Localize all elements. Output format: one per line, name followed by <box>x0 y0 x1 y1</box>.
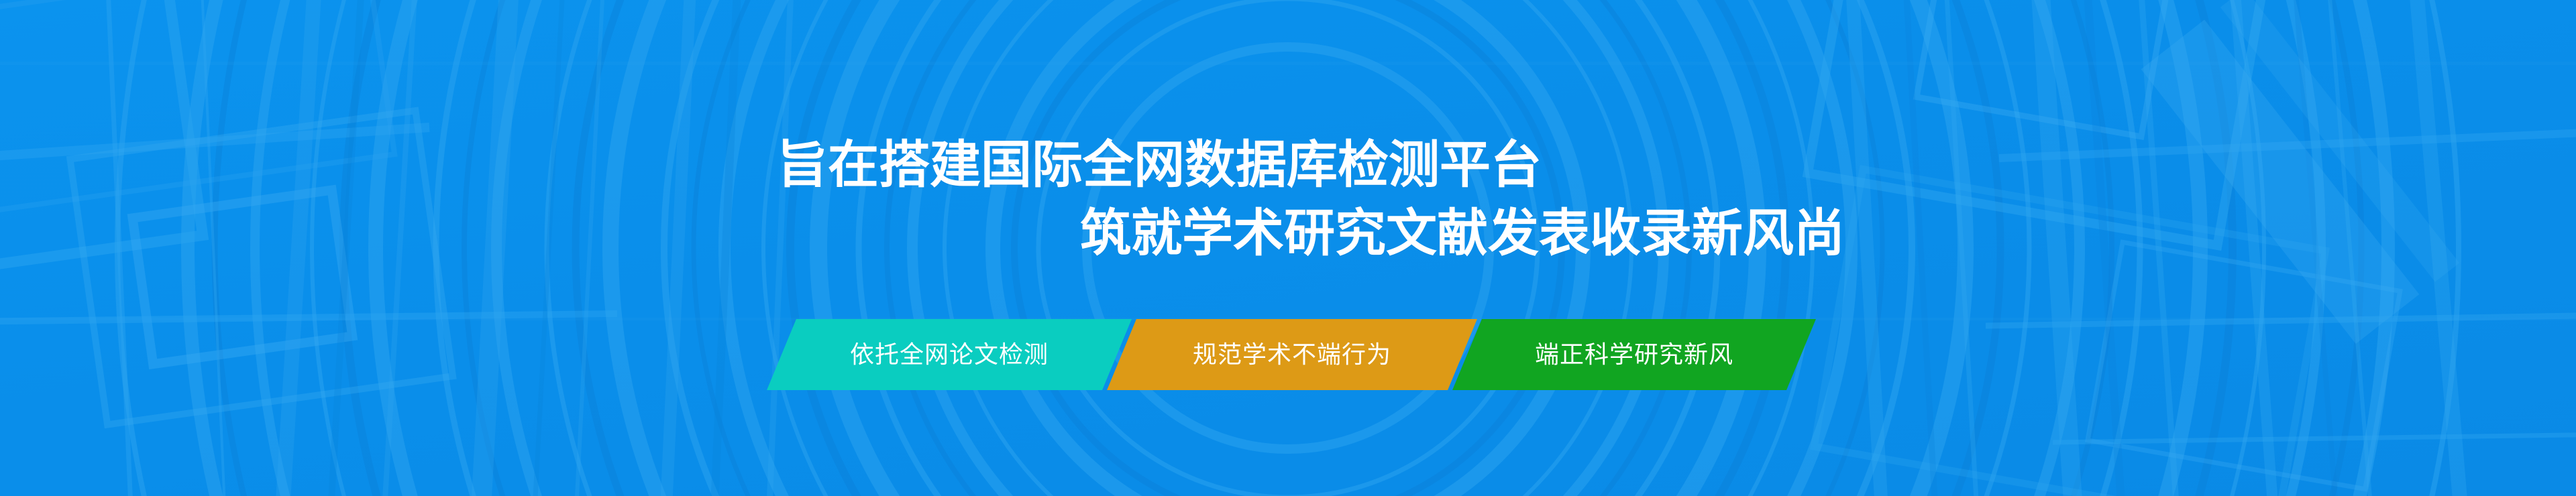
headline-line-2: 筑就学术研究文献发表收录新风尚 <box>1080 200 2576 268</box>
headline-line-1: 旨在搭建国际全网数据库检测平台 <box>777 131 2576 200</box>
ribbon-paper-detection-label: 依托全网论文检测 <box>850 343 1049 367</box>
ribbon-academic-misconduct[interactable]: 规范学术不端行为 <box>1107 319 1477 390</box>
ribbon-paper-detection[interactable]: 依托全网论文检测 <box>767 319 1132 390</box>
ribbon-academic-misconduct-label: 规范学术不端行为 <box>1193 343 1391 367</box>
ribbon-tag-group: 依托全网论文检测 规范学术不端行为 端正科学研究新风 <box>782 319 1801 390</box>
headline-block: 旨在搭建国际全网数据库检测平台 筑就学术研究文献发表收录新风尚 <box>0 131 2576 268</box>
hero-banner: 旨在搭建国际全网数据库检测平台 筑就学术研究文献发表收录新风尚 依托全网论文检测… <box>0 0 2576 496</box>
ribbon-research-ethos-label: 端正科学研究新风 <box>1535 343 1733 367</box>
ribbon-research-ethos[interactable]: 端正科学研究新风 <box>1452 319 1816 390</box>
